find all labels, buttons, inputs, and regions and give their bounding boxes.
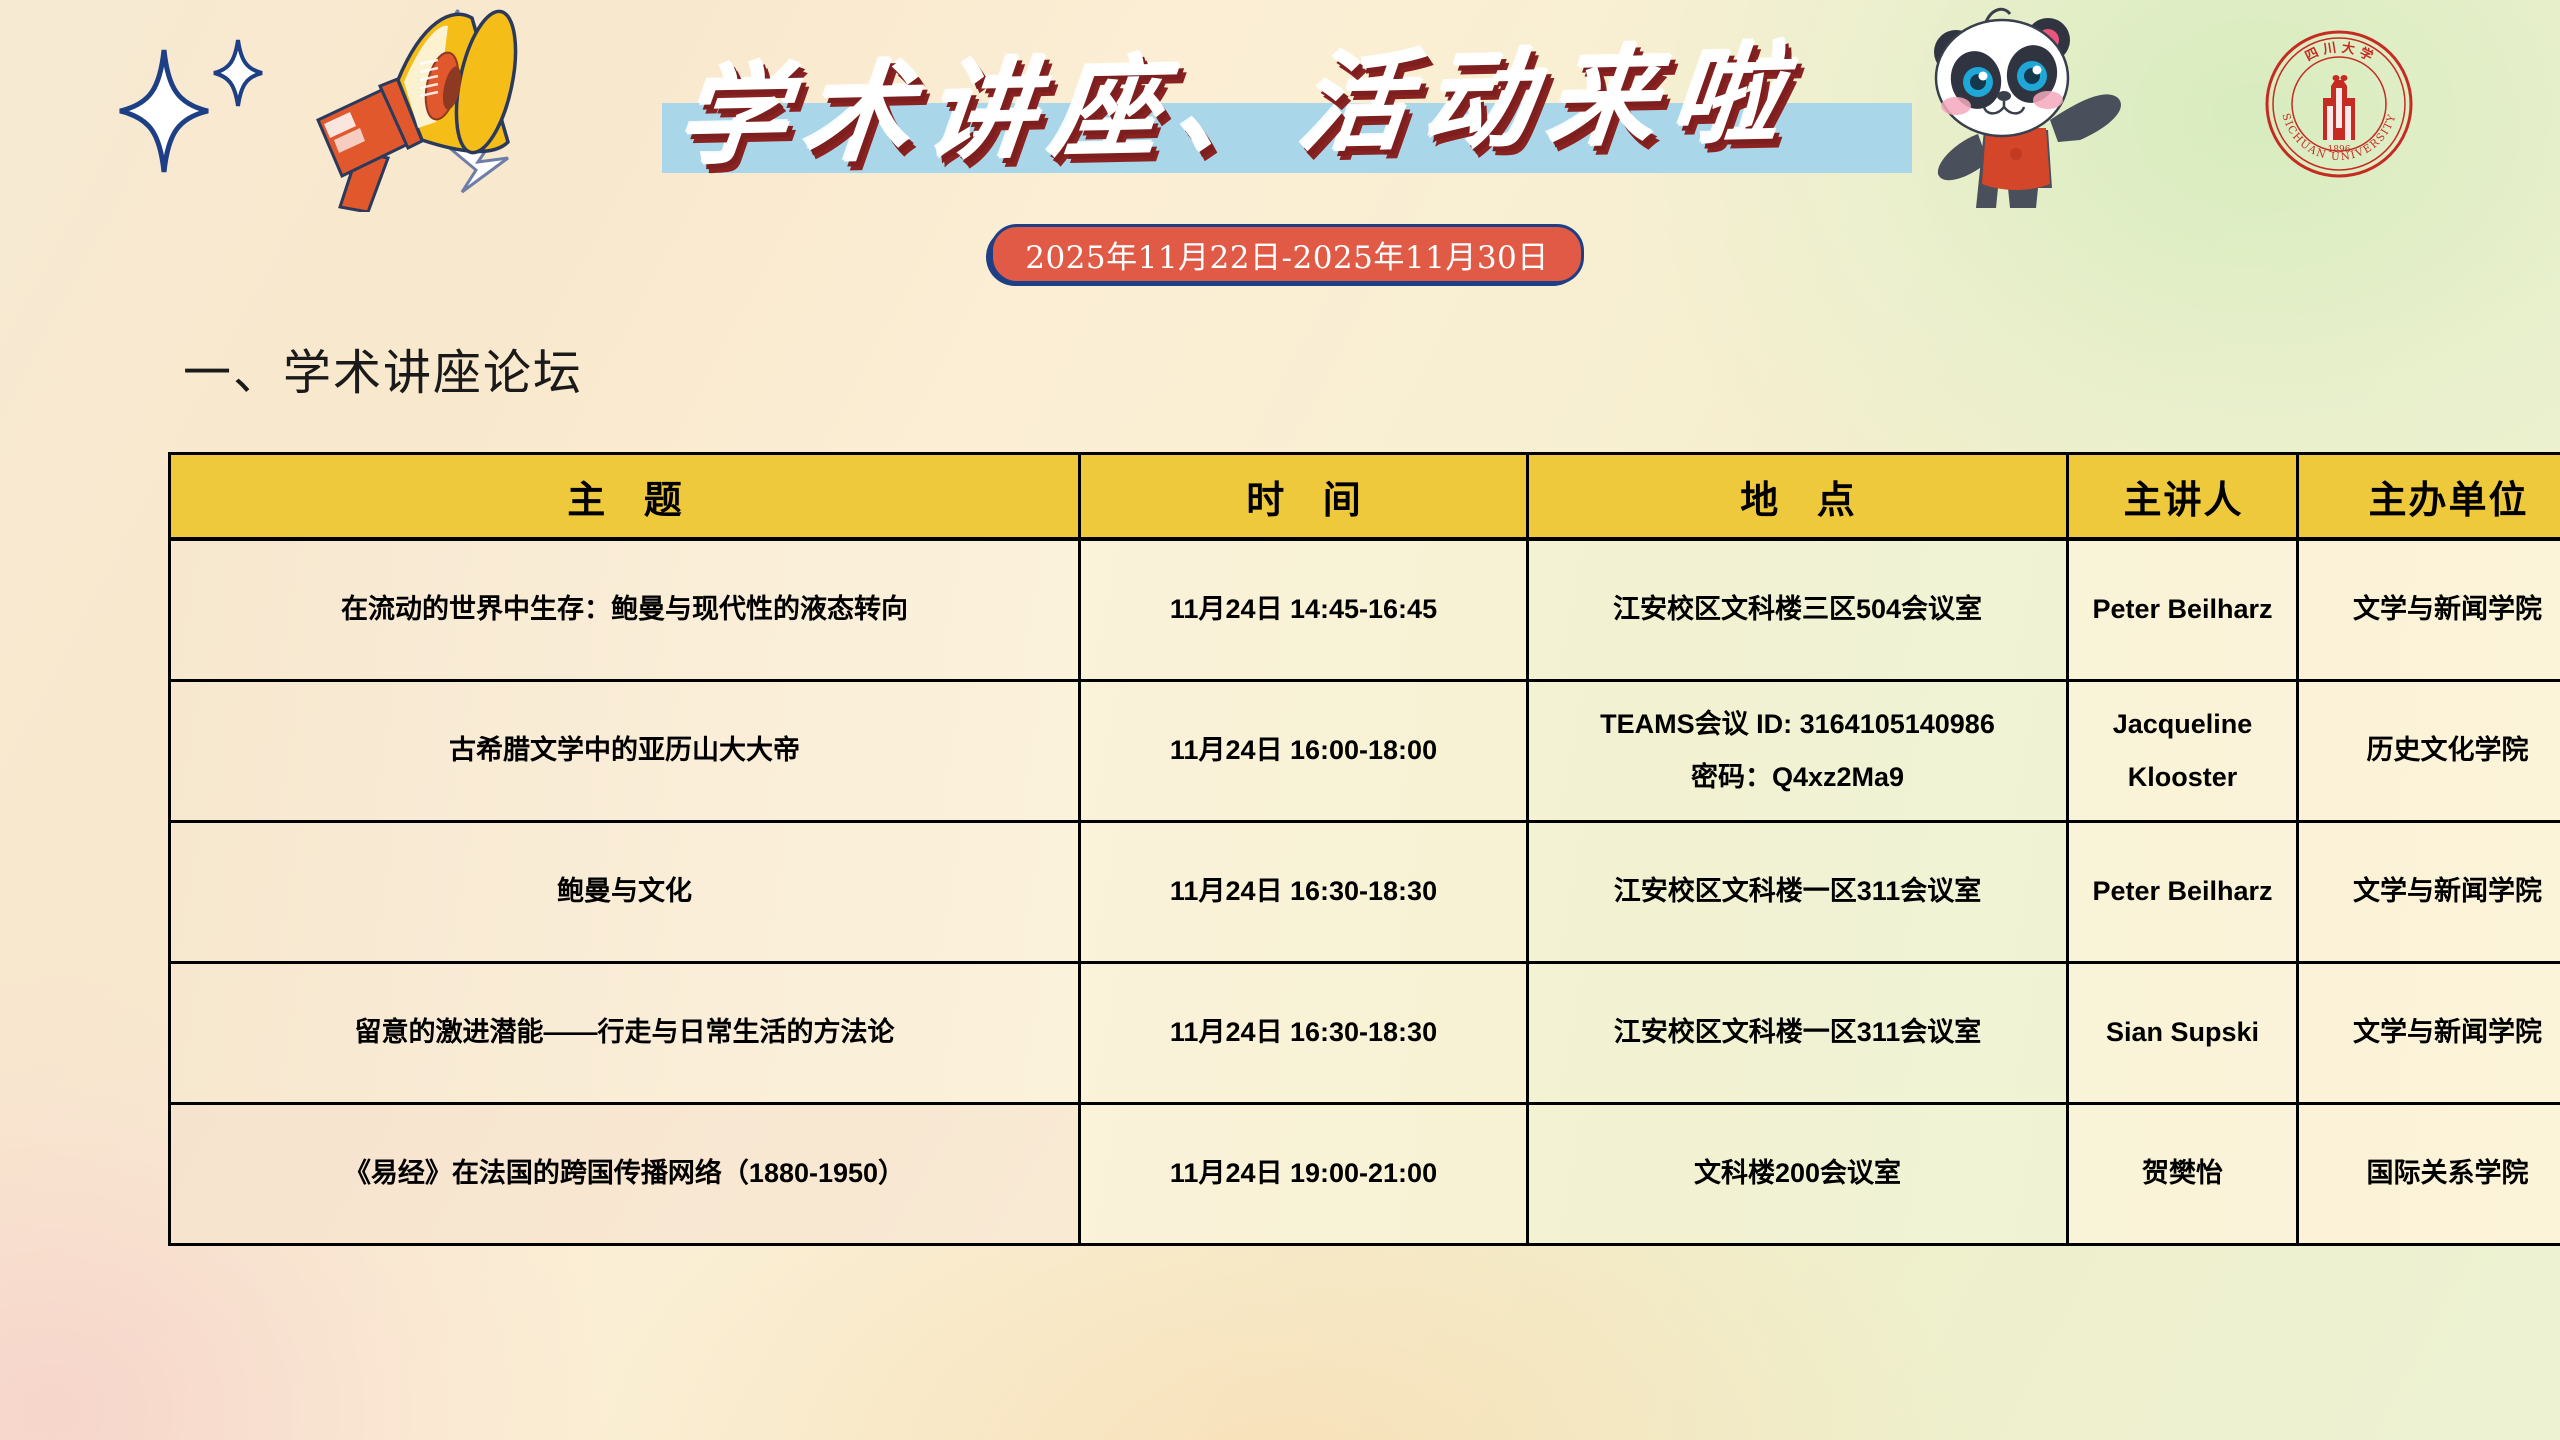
table-header-row: 主 题 时 间 地 点 主讲人 主办单位 xyxy=(170,454,2560,540)
cell-place: 文科楼200会议室 xyxy=(1528,1104,2068,1245)
cell-time: 11月24日 16:00-18:00 xyxy=(1080,681,1528,822)
section-heading: 一、学术讲座论坛 xyxy=(183,333,583,403)
cell-topic: 鲍曼与文化 xyxy=(170,822,1080,963)
cell-place: 江安校区文科楼三区504会议室 xyxy=(1528,539,2068,681)
schedule-table: 主 题 时 间 地 点 主讲人 主办单位 在流动的世界中生存：鲍曼与现代性的液态… xyxy=(168,452,2560,1246)
cell-speaker: Peter Beilharz xyxy=(2068,539,2298,681)
place-line-1: TEAMS会议 ID: 3164105140986 xyxy=(1541,705,2054,744)
place-line-2: 密码：Q4xz2Ma9 xyxy=(1541,758,2054,797)
speaker-line-1: Peter Beilharz xyxy=(2081,872,2284,911)
column-header-topic: 主 题 xyxy=(170,454,1080,540)
cell-place: TEAMS会议 ID: 3164105140986 密码：Q4xz2Ma9 xyxy=(1528,681,2068,822)
column-header-speaker: 主讲人 xyxy=(2068,454,2298,540)
date-range-badge: 2025年11月22日-2025年11月30日 xyxy=(990,224,1584,284)
speaker-line-1: Jacqueline xyxy=(2081,705,2284,744)
cell-host: 历史文化学院 xyxy=(2298,681,2560,822)
cell-time: 11月24日 16:30-18:30 xyxy=(1080,963,1528,1104)
cell-host: 国际关系学院 xyxy=(2298,1104,2560,1245)
cell-time: 11月24日 19:00-21:00 xyxy=(1080,1104,1528,1245)
page-title: 学术讲座、活动来啦 xyxy=(671,17,1909,193)
sichuan-university-logo: 1896 四 川 大 学 SICHUAN UNIVERSITY xyxy=(2263,28,2415,180)
place-line-1: 江安校区文科楼一区311会议室 xyxy=(1541,1013,2054,1052)
cell-host: 文学与新闻学院 xyxy=(2298,822,2560,963)
speaker-line-1: Sian Supski xyxy=(2081,1013,2284,1052)
speaker-line-1: 贺樊怡 xyxy=(2081,1154,2284,1193)
column-header-place: 地 点 xyxy=(1528,454,2068,540)
cell-topic: 在流动的世界中生存：鲍曼与现代性的液态转向 xyxy=(170,539,1080,681)
panda-mascot-icon xyxy=(1880,2,2150,217)
cell-host: 文学与新闻学院 xyxy=(2298,539,2560,681)
cell-topic: 《易经》在法国的跨国传播网络（1880-1950） xyxy=(170,1104,1080,1245)
cell-speaker: Jacqueline Klooster xyxy=(2068,681,2298,822)
place-line-1: 江安校区文科楼三区504会议室 xyxy=(1541,590,2054,629)
megaphone-icon xyxy=(190,2,540,212)
table-row: 留意的激进潜能——行走与日常生活的方法论 11月24日 16:30-18:30 … xyxy=(170,963,2560,1104)
cell-speaker: 贺樊怡 xyxy=(2068,1104,2298,1245)
table-body: 在流动的世界中生存：鲍曼与现代性的液态转向 11月24日 14:45-16:45… xyxy=(170,539,2560,1245)
schedule-table-container: 主 题 时 间 地 点 主讲人 主办单位 在流动的世界中生存：鲍曼与现代性的液态… xyxy=(168,452,2420,1246)
cell-topic: 留意的激进潜能——行走与日常生活的方法论 xyxy=(170,963,1080,1104)
cell-time: 11月24日 16:30-18:30 xyxy=(1080,822,1528,963)
column-header-host: 主办单位 xyxy=(2298,454,2560,540)
speaker-line-2: Klooster xyxy=(2081,758,2284,797)
speaker-line-1: Peter Beilharz xyxy=(2081,590,2284,629)
table-row: 古希腊文学中的亚历山大大帝 11月24日 16:00-18:00 TEAMS会议… xyxy=(170,681,2560,822)
table-row: 《易经》在法国的跨国传播网络（1880-1950） 11月24日 19:00-2… xyxy=(170,1104,2560,1245)
cell-host: 文学与新闻学院 xyxy=(2298,963,2560,1104)
cell-topic: 古希腊文学中的亚历山大大帝 xyxy=(170,681,1080,822)
cell-place: 江安校区文科楼一区311会议室 xyxy=(1528,963,2068,1104)
cell-speaker: Peter Beilharz xyxy=(2068,822,2298,963)
place-line-1: 江安校区文科楼一区311会议室 xyxy=(1541,872,2054,911)
cell-place: 江安校区文科楼一区311会议室 xyxy=(1528,822,2068,963)
cell-speaker: Sian Supski xyxy=(2068,963,2298,1104)
table-row: 在流动的世界中生存：鲍曼与现代性的液态转向 11月24日 14:45-16:45… xyxy=(170,539,2560,681)
column-header-time: 时 间 xyxy=(1080,454,1528,540)
poster-canvas: 1896 四 川 大 学 SICHUAN UNIVERSITY 学术讲座、活动来… xyxy=(0,0,2560,1440)
table-row: 鲍曼与文化 11月24日 16:30-18:30 江安校区文科楼一区311会议室… xyxy=(170,822,2560,963)
place-line-1: 文科楼200会议室 xyxy=(1541,1154,2054,1193)
table-header: 主 题 时 间 地 点 主讲人 主办单位 xyxy=(170,454,2560,540)
cell-time: 11月24日 14:45-16:45 xyxy=(1080,539,1528,681)
